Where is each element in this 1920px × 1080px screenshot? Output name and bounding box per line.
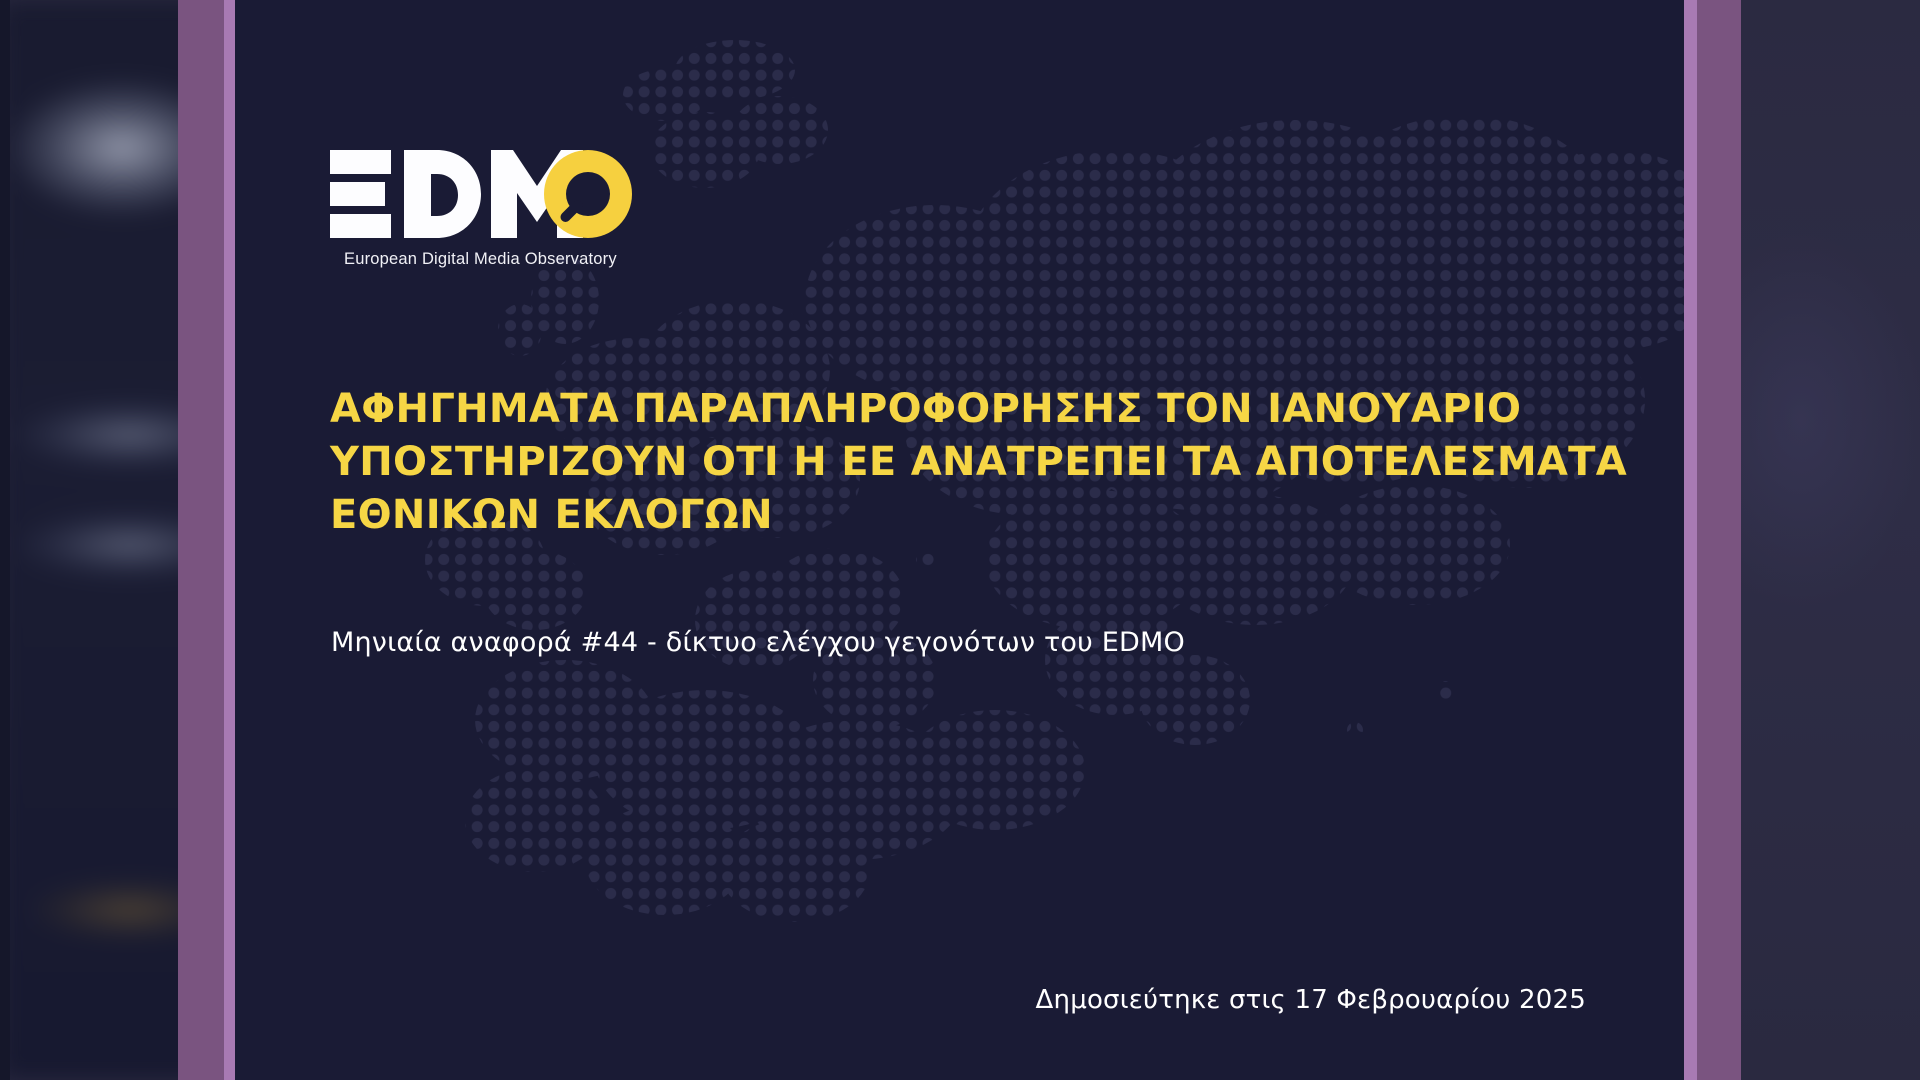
edmo-wordmark-icon [330,148,632,241]
magnifying-glass-icon [544,150,632,238]
page-title: ΑΦΗΓΗΜΑΤΑ ΠΑΡΑΠΛΗΡΟΦΟΡΗΣΗΣ ΤΟΝ ΙΑΝΟΥΑΡΙΟ… [330,383,1650,542]
viewer-left-edge [0,0,10,1080]
headline-line-2: ΥΠΟΣΤΗΡΙΖΟΥΝ ΟΤΙ Η ΕΕ ΑΝΑΤΡΕΠΕΙ ΤΑ ΑΠΟΤΕ… [330,436,1650,489]
three-bars-e-icon [330,150,391,238]
slide-spine-left-dark [178,0,224,1080]
slide-spine-right-light [1684,0,1697,1080]
headline-line-1: ΑΦΗΓΗΜΑΤΑ ΠΑΡΑΠΛΗΡΟΦΟΡΗΣΗΣ ΤΟΝ ΙΑΝΟΥΑΡΙΟ [330,383,1650,436]
slide-spine-left-light [224,0,235,1080]
report-subtitle: Μηνιαία αναφορά #44 - δίκτυο ελέγχου γεγ… [331,627,1185,658]
edmo-logo: European Digital Media Observatory [330,148,710,269]
headline-line-3: ΕΘΝΙΚΩΝ ΕΚΛΟΓΩΝ [330,489,1650,542]
slide-spine-right-dark [1697,0,1741,1080]
report-cover-slide: European Digital Media Observatory ΑΦΗΓΗ… [235,0,1684,1080]
published-date: Δημοσιεύτηκε στις 17 Φεβρουαρίου 2025 [1036,985,1586,1015]
logo-tagline: European Digital Media Observatory [344,250,710,269]
document-viewer: European Digital Media Observatory ΑΦΗΓΗ… [0,0,1920,1080]
viewer-right-surround [1741,0,1920,1080]
